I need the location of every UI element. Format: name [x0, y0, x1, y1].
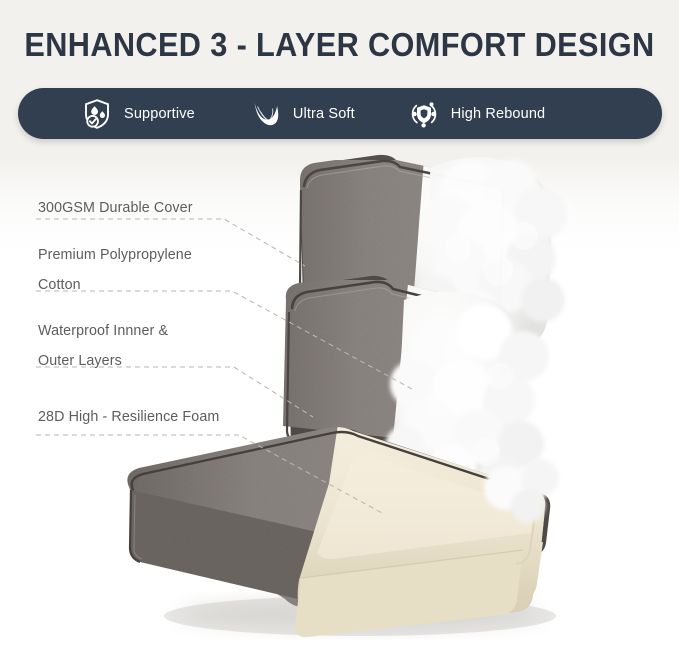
callout-foam: 28D High - Resilience Foam [38, 402, 219, 432]
callout-cover: 300GSM Durable Cover [38, 193, 193, 223]
callout-cotton: Premium Polypropylene Cotton [38, 240, 192, 300]
infographic-canvas: ENHANCED 3 - LAYER COMFORT DESIGN Suppor… [0, 0, 679, 660]
callout-layers: Waterproof Innner & Outer Layers [38, 316, 168, 376]
